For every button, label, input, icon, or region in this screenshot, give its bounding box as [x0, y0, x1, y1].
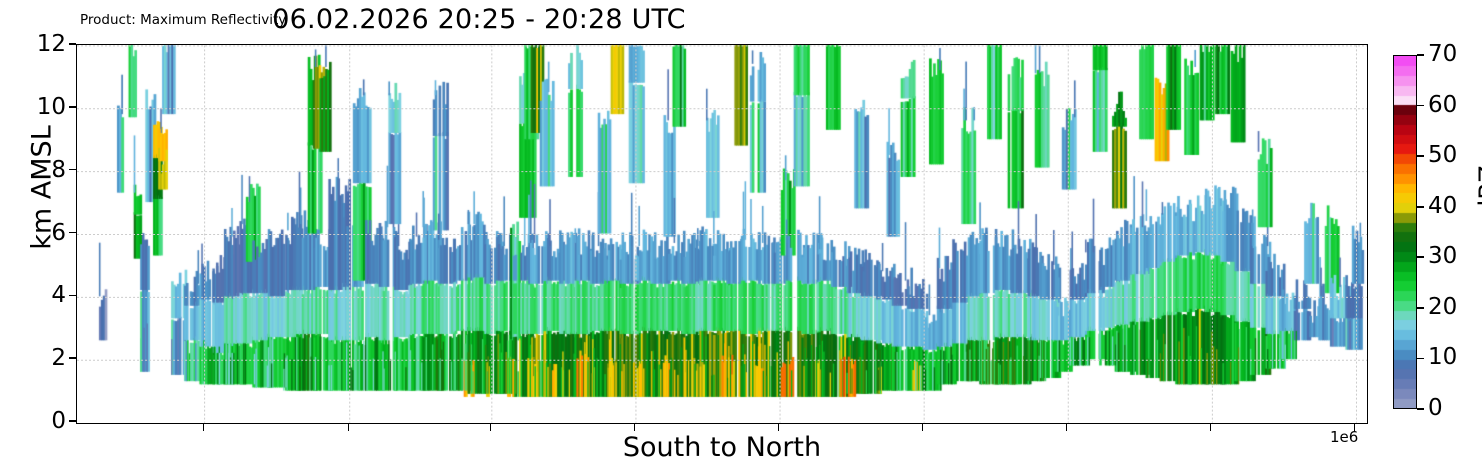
colorbar-unit-label: dBZ: [1474, 111, 1482, 271]
colorbar-tick: [1417, 408, 1424, 410]
x-axis-tick: [1066, 424, 1068, 431]
x-axis-tick: [1210, 424, 1212, 431]
colorbar-tick-label: 0: [1428, 397, 1443, 420]
colorbar-tick-label: 50: [1428, 144, 1457, 167]
x-axis-tick: [490, 424, 492, 431]
colorbar-tick: [1417, 155, 1424, 157]
colorbar-tick-label: 30: [1428, 245, 1457, 268]
page-title: 06.02.2026 20:25 - 20:28 UTC: [0, 4, 1482, 35]
x-axis-tick: [634, 424, 636, 431]
colorbar-tick: [1417, 358, 1424, 360]
colorbar-tick-label: 60: [1428, 94, 1457, 117]
colorbar-tick-label: 70: [1428, 43, 1457, 66]
chart-title-text: 06.02.2026 20:25 - 20:28 UTC: [272, 4, 685, 35]
y-axis-tick-label: 2: [10, 345, 66, 371]
y-axis-label: km AMSL: [27, 68, 58, 308]
colorbar-gradient: [1394, 56, 1416, 408]
colorbar-tick: [1417, 206, 1424, 208]
plot-area: [76, 44, 1368, 424]
radar-cross-section-figure: Product: Maximum Reflectivity 06.02.2026…: [0, 0, 1482, 470]
x-axis-offset-label: 1e6: [1330, 428, 1358, 446]
x-axis-label: South to North: [76, 432, 1368, 463]
colorbar-tick-label: 20: [1428, 296, 1457, 319]
y-axis-tick-label: 12: [10, 31, 66, 57]
colorbar-tick-label: 10: [1428, 346, 1457, 369]
y-axis-tick: [69, 169, 76, 171]
y-axis-tick: [69, 295, 76, 297]
colorbar: [1393, 55, 1417, 409]
y-axis-tick-label: 0: [10, 408, 66, 434]
y-axis-tick: [69, 357, 76, 359]
x-axis-tick: [778, 424, 780, 431]
colorbar-tick: [1417, 54, 1424, 56]
colorbar-tick: [1417, 105, 1424, 107]
colorbar-tick-label: 40: [1428, 195, 1457, 218]
x-axis-tick: [348, 424, 350, 431]
x-axis-tick: [203, 424, 205, 431]
colorbar-tick: [1417, 307, 1424, 309]
colorbar-tick: [1417, 256, 1424, 258]
y-axis-tick: [69, 43, 76, 45]
x-axis-tick: [922, 424, 924, 431]
y-axis-tick: [69, 106, 76, 108]
y-axis-tick: [69, 420, 76, 422]
y-axis-tick: [69, 232, 76, 234]
reflectivity-heatmap: [77, 45, 1366, 422]
